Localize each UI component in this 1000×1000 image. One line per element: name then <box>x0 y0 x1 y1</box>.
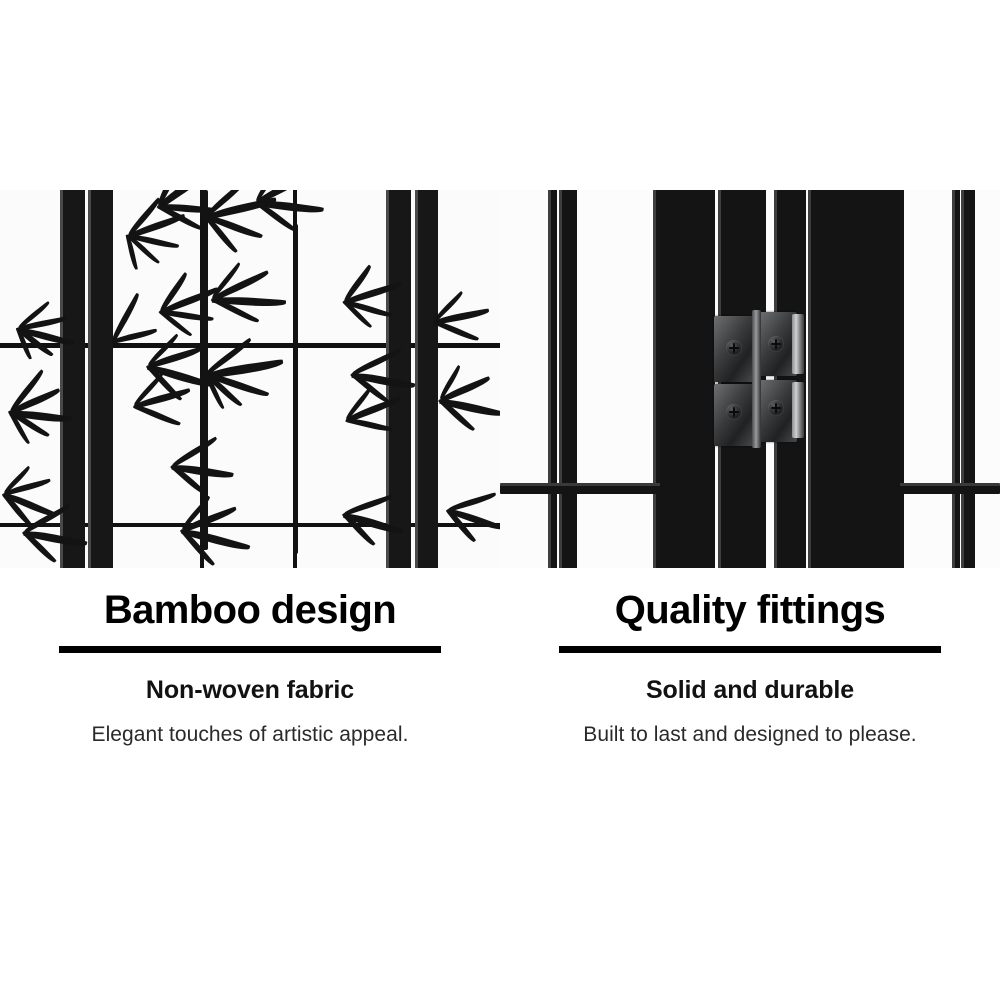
bamboo-stalk <box>294 224 298 554</box>
headline-divider <box>559 646 941 653</box>
hinge-knuckle-lower <box>792 382 804 438</box>
feature-headline: Bamboo design <box>0 588 500 633</box>
screen-post <box>952 190 960 568</box>
hinge-screw <box>768 400 784 416</box>
hinge-pin-lower <box>752 378 761 448</box>
bamboo-screen-photo <box>0 190 500 568</box>
screen-panel-face <box>653 190 715 568</box>
screen-panel-face <box>808 190 904 568</box>
screen-post <box>559 190 577 568</box>
hinge-scene <box>500 190 1000 568</box>
hinge-screw <box>726 340 742 356</box>
frame-post <box>415 190 438 568</box>
bamboo-scene <box>0 190 500 568</box>
screen-crossbar <box>900 483 1000 494</box>
feature-subline: Solid and durable <box>500 676 1000 705</box>
screen-crossbar <box>500 483 660 494</box>
hinge-pin-upper <box>752 310 761 382</box>
feature-description: Built to last and designed to please. <box>500 723 1000 747</box>
feature-headline: Quality fittings <box>500 588 1000 633</box>
feature-column-fittings: Quality fittings Solid and durable Built… <box>500 588 1000 747</box>
hinge-screw <box>768 336 784 352</box>
frame-post <box>88 190 113 568</box>
hinge-screw <box>726 404 742 420</box>
photo-band <box>0 190 1000 568</box>
feature-description: Elegant touches of artistic appeal. <box>0 723 500 747</box>
hinge-assembly <box>714 310 806 450</box>
feature-column-bamboo: Bamboo design Non-woven fabric Elegant t… <box>0 588 500 747</box>
hinge-detail-photo <box>500 190 1000 568</box>
screen-post <box>961 190 975 568</box>
hinge-knuckle-upper <box>792 314 804 374</box>
screen-post <box>548 190 557 568</box>
headline-divider <box>59 646 441 653</box>
product-feature-page: Bamboo design Non-woven fabric Elegant t… <box>0 0 1000 1000</box>
copy-band: Bamboo design Non-woven fabric Elegant t… <box>0 588 1000 747</box>
feature-subline: Non-woven fabric <box>0 676 500 705</box>
